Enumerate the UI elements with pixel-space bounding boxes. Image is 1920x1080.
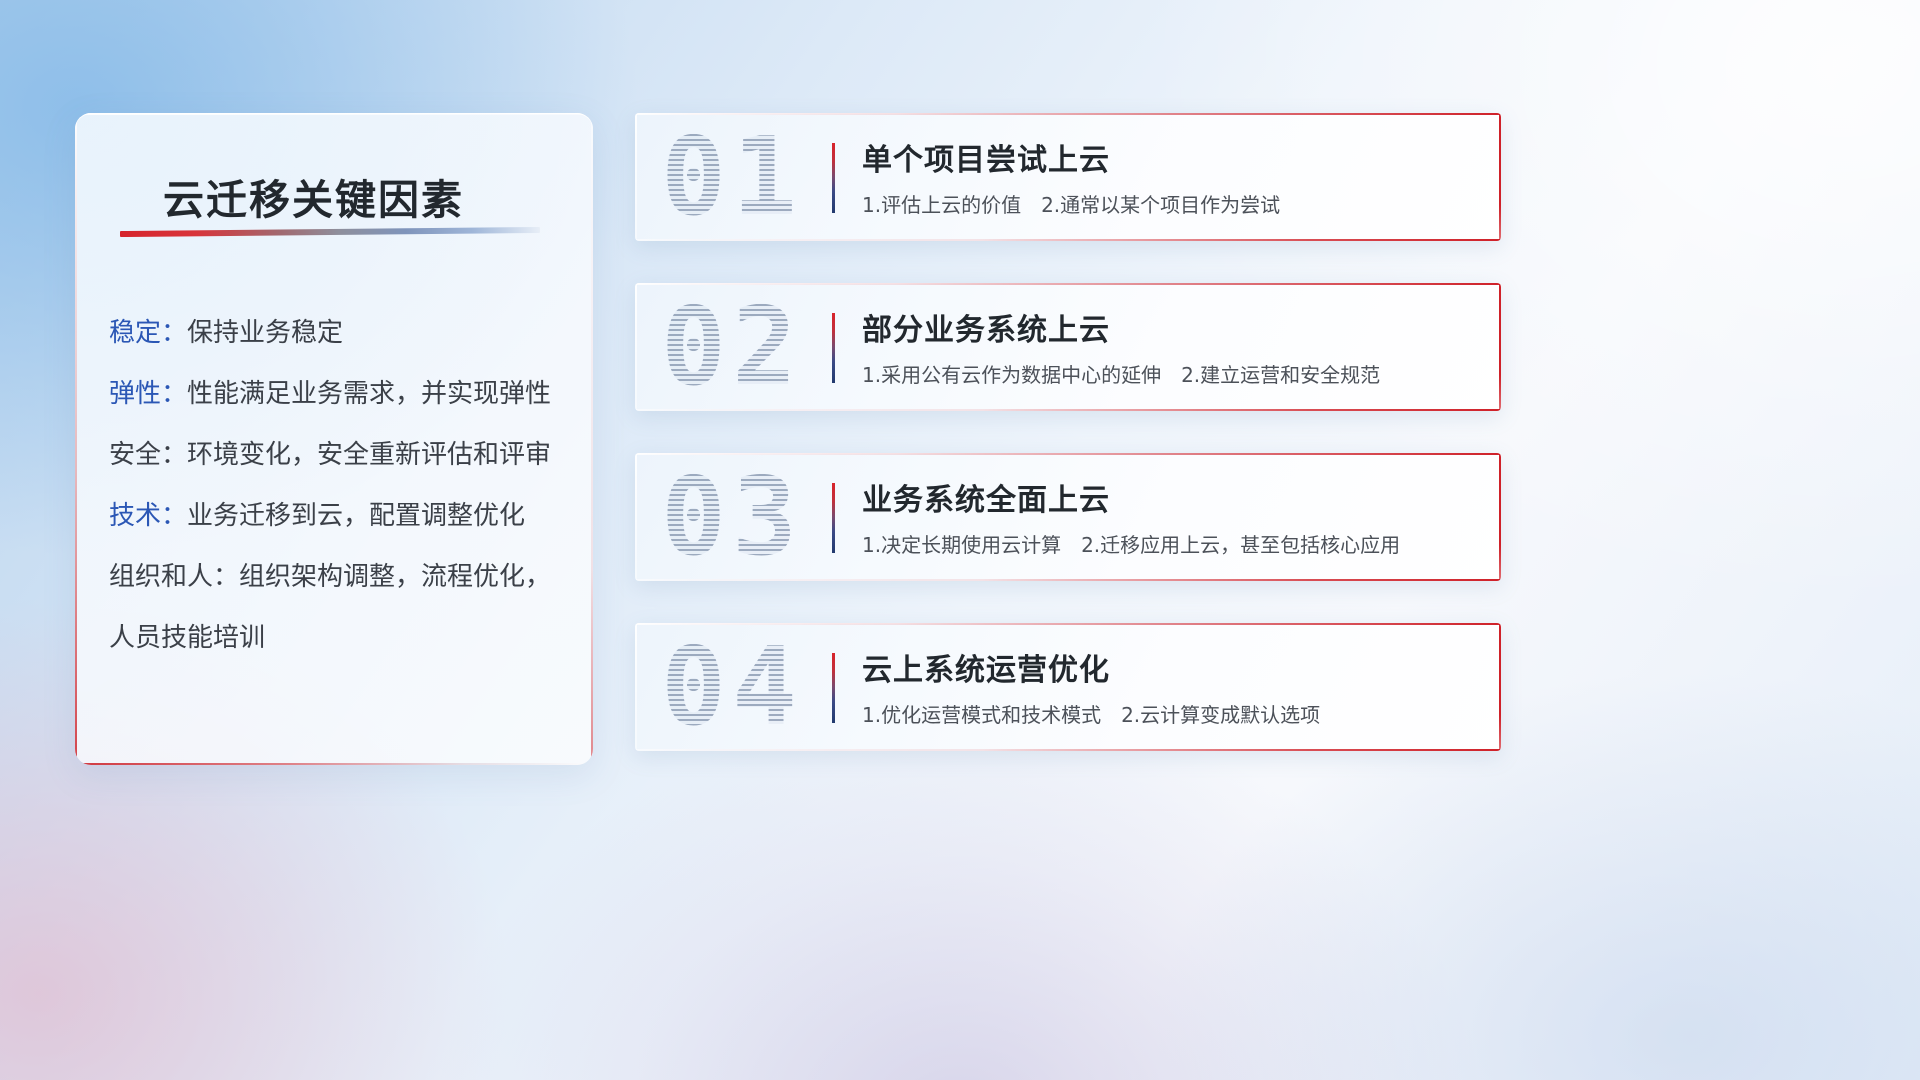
stage-divider-bar [832, 483, 835, 553]
stage-title: 业务系统全面上云 [862, 475, 1110, 519]
stage-card[interactable]: 0101单个项目尝试上云1.评估上云的价值 2.通常以某个项目作为尝试 [635, 113, 1501, 241]
panel-title: 云迁移关键因素 [163, 166, 563, 226]
factor-key: 安全： [109, 440, 187, 470]
stage-title: 单个项目尝试上云 [862, 135, 1110, 179]
factor-value: 组织架构调整，流程优化， [239, 562, 551, 592]
stage-card[interactable]: 0202部分业务系统上云1.采用公有云作为数据中心的延伸 2.建立运营和安全规范 [635, 283, 1501, 411]
stage-subtitle: 1.决定长期使用云计算 2.迁移应用上云，甚至包括核心应用 [862, 529, 1400, 558]
key-factors-panel: 云迁移关键因素 稳定：保持业务稳定弹性：性能满足业务需求，并实现弹性安全：环境变… [75, 113, 593, 765]
factor-value: 保持业务稳定 [187, 318, 343, 348]
stage-number-watermark: 03 [661, 459, 851, 577]
stage-number-watermark: 01 [661, 119, 851, 237]
stage-number-watermark: 04 [661, 629, 851, 747]
factor-value: 业务迁移到云，配置调整优化 [187, 501, 525, 531]
panel-edge-bottom [75, 763, 593, 765]
factor-row: 安全：环境变化，安全重新评估和评审 [109, 425, 573, 486]
factor-key: 技术： [109, 501, 187, 531]
factor-row: 人员技能培训 [109, 608, 573, 669]
stage-subtitle: 1.评估上云的价值 2.通常以某个项目作为尝试 [862, 189, 1280, 218]
factor-row: 弹性：性能满足业务需求，并实现弹性 [109, 364, 573, 425]
stage-title: 云上系统运营优化 [862, 645, 1110, 689]
stage-divider-bar [832, 143, 835, 213]
factor-list: 稳定：保持业务稳定弹性：性能满足业务需求，并实现弹性安全：环境变化，安全重新评估… [109, 303, 573, 669]
factor-key: 弹性： [109, 379, 187, 409]
factor-key: 稳定： [109, 318, 187, 348]
factor-row: 组织和人：组织架构调整，流程优化， [109, 547, 573, 608]
card-edge-left [635, 623, 637, 751]
card-edge-left [635, 113, 637, 241]
stage-subtitle: 1.采用公有云作为数据中心的延伸 2.建立运营和安全规范 [862, 359, 1380, 388]
card-edge-right [1499, 283, 1501, 411]
factor-key: 组织和人： [109, 562, 239, 592]
stage-divider-bar [832, 653, 835, 723]
card-edge-left [635, 283, 637, 411]
stage-card-list: 0101单个项目尝试上云1.评估上云的价值 2.通常以某个项目作为尝试0202部… [635, 113, 1503, 793]
stage-number-watermark: 02 [661, 289, 851, 407]
card-edge-left [635, 453, 637, 581]
stage-divider-bar [832, 313, 835, 383]
stage-subtitle: 1.优化运营模式和技术模式 2.云计算变成默认选项 [862, 699, 1320, 728]
panel-edge-right [591, 113, 593, 765]
stage-title: 部分业务系统上云 [862, 305, 1110, 349]
factor-row: 稳定：保持业务稳定 [109, 303, 573, 364]
stage-card[interactable]: 0404云上系统运营优化1.优化运营模式和技术模式 2.云计算变成默认选项 [635, 623, 1501, 751]
card-edge-right [1499, 623, 1501, 751]
title-gradient-rule [120, 227, 540, 237]
factor-row: 技术：业务迁移到云，配置调整优化 [109, 486, 573, 547]
factor-value: 人员技能培训 [109, 623, 265, 653]
card-edge-right [1499, 113, 1501, 241]
factor-value: 性能满足业务需求，并实现弹性 [187, 379, 551, 409]
factor-value: 环境变化，安全重新评估和评审 [187, 440, 551, 470]
stage-card[interactable]: 0303业务系统全面上云1.决定长期使用云计算 2.迁移应用上云，甚至包括核心应… [635, 453, 1501, 581]
panel-edge-top [75, 113, 593, 115]
card-edge-right [1499, 453, 1501, 581]
panel-edge-left [75, 113, 77, 765]
